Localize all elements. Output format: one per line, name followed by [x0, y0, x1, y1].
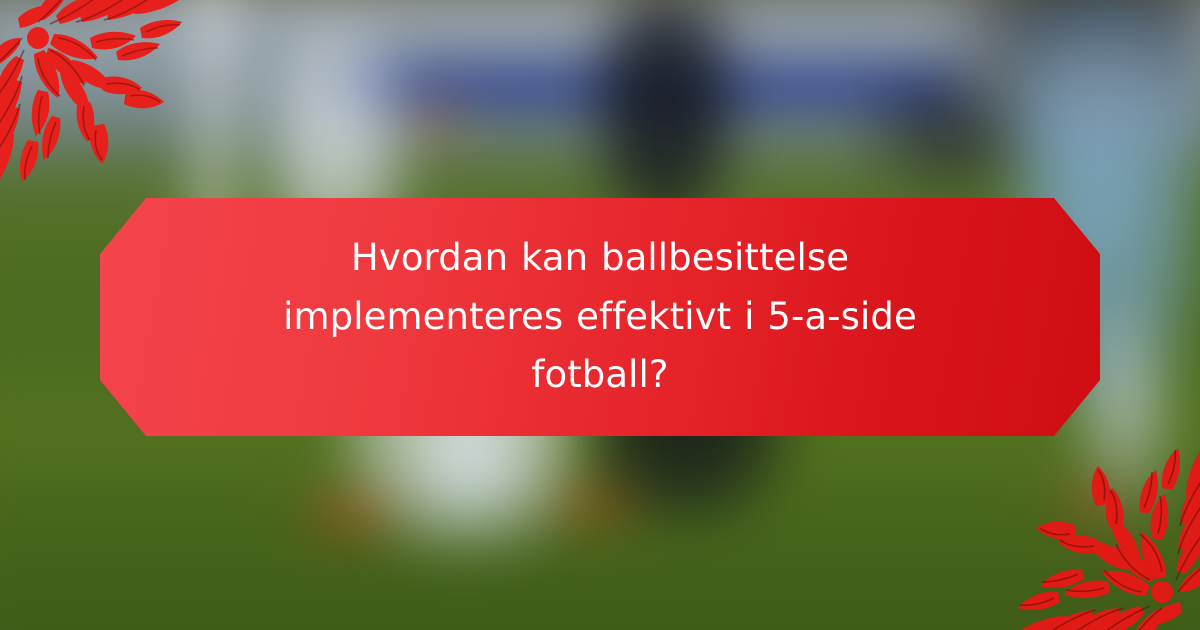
question-headline: Hvordan kan ballbesittelse implementeres… — [230, 229, 970, 404]
orange-boot-right — [1045, 480, 1145, 526]
player-dark-kit — [590, 0, 740, 230]
goal-crossbar — [110, 0, 630, 16]
social-card: Hvordan kan ballbesittelse implementeres… — [0, 0, 1200, 630]
question-banner: Hvordan kan ballbesittelse implementeres… — [100, 198, 1100, 436]
orange-boot-centre — [540, 480, 650, 530]
player-skin-tone — [390, 80, 480, 160]
orange-boot-left — [290, 490, 410, 538]
